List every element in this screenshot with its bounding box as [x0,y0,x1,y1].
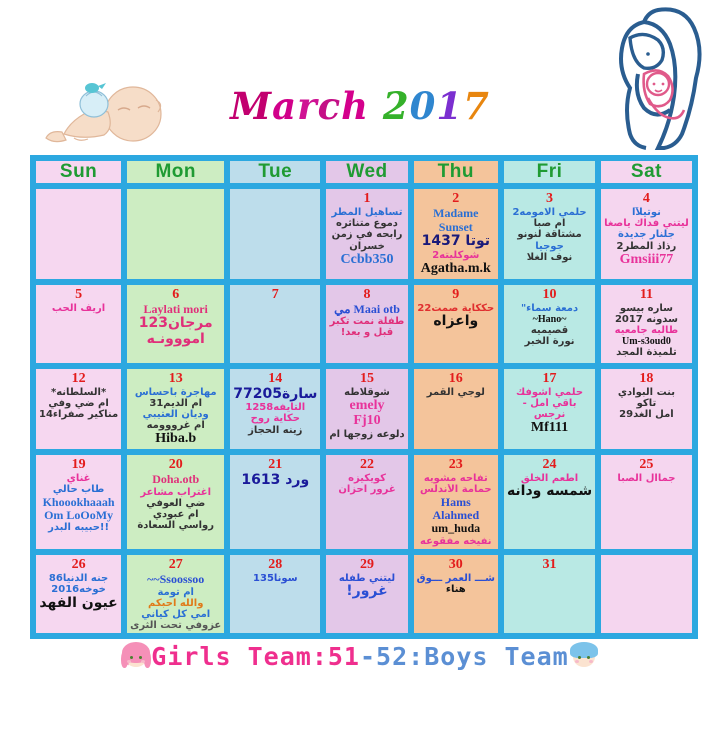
calendar-week-row: 1تساهيل المطردموع متناثرهرابحه في زمنخسر… [33,186,695,282]
calendar-week-row: 5اريف الحب6Laylati moriمرجان123امووونـه7… [33,282,695,366]
day-note: شـــ العمر ـــوق [417,573,495,584]
day-note: طالبه جامعيه [604,325,689,336]
day-notes: ورد 1613 [233,473,317,489]
day-note: حلمي اشوفك [507,387,592,398]
day-note: اغتراب مشاعر [130,487,221,498]
day-note: لوجي القمر [417,387,495,398]
day-number: 9 [417,287,495,302]
weekday-header-row: Sun Mon Tue Wed Thu Fri Sat [33,158,695,186]
day-notes: مهاجرة باحساسام الديم31وديان العتيبيام غ… [130,387,221,447]
day-note: اريف الحب [39,303,118,314]
day-cell-14[interactable]: 14سارة77205التايفه1258حكاية روحزينه الحج… [227,366,323,453]
day-note: ساره بيسو [604,303,689,314]
day-note: خوخه2016 [39,584,118,595]
day-note: Hams [417,496,495,509]
day-note: Fj10 [329,413,404,429]
day-number: 5 [39,287,118,302]
day-note: تفاحه مشويه [417,473,495,484]
boys-score: 52 [376,642,408,671]
day-note: هناء [417,584,495,595]
day-number: 4 [604,191,689,206]
day-cell-15[interactable]: 15شوقلاطهemelyFj10دلوعه زوجها ام [323,366,410,453]
day-number: 23 [417,457,495,472]
day-notes: ~~Ssoossooأم تومةوالله احبكمامي كل كياني… [130,573,221,631]
day-note: واعزاه [417,314,495,330]
calendar-body: 1تساهيل المطردموع متناثرهرابحه في زمنخسر… [33,186,695,636]
day-note: قبل و بعد! [329,327,404,338]
day-cell-empty[interactable] [124,186,227,282]
day-note: شوكليته2 [417,250,495,261]
day-note: Sunset [417,221,495,234]
day-cell-23[interactable]: 23تفاحه مشويهحمامة الأندلسHamsAlahmedum_… [411,452,501,552]
day-note: مهاجرة باحساس [130,387,221,398]
day-cell-28[interactable]: 28سونا135 [227,552,323,636]
day-number: 19 [39,457,118,472]
calendar-week-row: 26جنه الدنيا86خوخه2016عيون الفهد27~~Ssoo… [33,552,695,636]
day-note: ضي العوفي [130,498,221,509]
day-note: رذاذ المطر2 [604,241,689,252]
day-notes: Doha.otbاغتراب مشاعرضي العوفيام عبوديروا… [130,473,221,531]
day-note: قصيميه [507,325,592,336]
day-notes: مي Maai otbطفلة نمت تكبرقبل و بعد! [329,303,404,339]
day-cell-1[interactable]: 1تساهيل المطردموع متناثرهرابحه في زمنخسر… [323,186,410,282]
calendar-week-row: 19غنايطاب حاليKhoookhaaahOm LoOoMy!!حبيب… [33,452,695,552]
day-note: Ccbb350 [329,252,404,268]
day-number: 1 [329,191,404,206]
day-note: *السلطانه* [39,387,118,398]
day-notes: لوجي القمر [417,387,495,398]
day-note: مرجان123 [130,316,221,332]
day-note: ~Hano~ [507,314,592,325]
day-number: 30 [417,557,495,572]
day-notes: حككاية صمت22واعزاه [417,303,495,330]
day-number: 20 [130,457,221,472]
day-notes: شوقلاطهemelyFj10دلوعه زوجها ام [329,387,404,441]
day-note: حمامة الأندلس [417,484,495,495]
day-number: 16 [417,371,495,386]
day-number: 8 [329,287,404,302]
day-note: مناكير صفراء14 [39,409,118,420]
teams-score-footer: Girls Team:51-52:Boys Team [0,636,720,676]
day-note: تلميذة المجد [604,347,689,358]
day-cell-4[interactable]: 4نوتيلآاليتني فداك ياصغاجلنار جديدةرذاذ … [598,186,695,282]
day-notes: MadameSunsetتوتا 1437شوكليته2Agatha.m.k [417,207,495,276]
day-notes: جماال الصبا [604,473,689,484]
day-note: رواسي السعادة [130,520,221,531]
day-note: دمعة سماء" [507,303,592,314]
day-note: امووونـه [130,332,221,348]
day-cell-6[interactable]: 6Laylati moriمرجان123امووونـه [124,282,227,366]
day-note: Mf111 [507,420,592,436]
day-note: Um-s3oud0 [604,336,689,347]
day-notes: سونا135 [233,573,317,584]
day-note: مي Maai otb [329,303,404,316]
day-note: غرور احزان [329,484,404,495]
calendar-page: March 2017 Sun Mon Tue Wed Thu Fri Sa [0,0,720,748]
boy-face-icon [569,642,599,670]
day-cell-empty[interactable] [598,552,695,636]
day-number: 29 [329,557,404,572]
day-notes: حلمي الامومه2ام صبامشتاقة لنونوجوجيانوف … [507,207,592,263]
day-cell-13[interactable]: 13مهاجرة باحساسام الديم31وديان العتيبيام… [124,366,227,453]
day-note: جنه الدنيا86 [39,573,118,584]
calendar-week-row: 12*السلطانه*ام ضي وفيمناكير صفراء1413مها… [33,366,695,453]
day-cell-29[interactable]: 29ليتني طفلهغرور! [323,552,410,636]
day-number: 11 [604,287,689,302]
day-notes: سارة77205التايفه1258حكاية روحزينه الحجاز [233,387,317,436]
day-number: 21 [233,457,317,472]
day-note: والله احبكم [130,598,221,609]
day-notes: دمعة سماء"~Hano~قصيميهنورة الخبر [507,303,592,348]
girls-team-label: Girls Team [151,642,312,671]
day-note: غناي [39,473,118,484]
score-separator-left: : [312,642,328,671]
day-note: ام عبودي [130,509,221,520]
day-note: Madame [417,207,495,220]
day-number: 31 [507,557,592,572]
day-notes: ساره بيسوسدونه 2017طالبه جامعيهUm-s3oud0… [604,303,689,359]
day-cell-2[interactable]: 2MadameSunsetتوتا 1437شوكليته2Agatha.m.k [411,186,501,282]
day-note: مشتاقة لنونو [507,229,592,240]
boys-team-label: Boys Team [424,642,568,671]
day-note: حككاية صمت22 [417,303,495,314]
day-note: جوجيا [507,241,592,252]
day-note: ورد 1613 [233,473,317,489]
mother-holding-baby-illustration [600,4,712,152]
weekday-header-thu: Thu [411,158,501,186]
day-number: 15 [329,371,404,386]
day-note: دلوعه زوجها ام [329,429,404,440]
day-note: تساهيل المطر [329,207,404,218]
day-note: Khoookhaaah [39,496,118,509]
day-note: نرجس [507,409,592,420]
score-line: Girls Team:51-52:Boys Team [151,642,568,671]
day-number: 24 [507,457,592,472]
day-note: Om LoOoMy [39,509,118,522]
day-cell-empty[interactable] [227,186,323,282]
day-cell-empty[interactable] [33,186,124,282]
day-note: خسران [329,241,404,252]
day-note: تاكو [604,398,689,409]
day-note: حلمي الامومه2 [507,207,592,218]
day-cell-24[interactable]: 24اطعم الخلقشمسه ودانه [501,452,598,552]
day-number: 17 [507,371,592,386]
day-cell-20[interactable]: 20Doha.otbاغتراب مشاعرضي العوفيام عبودير… [124,452,227,552]
day-note: ام غرووومه [130,420,221,431]
day-cell-9[interactable]: 9حككاية صمت22واعزاه [411,282,501,366]
day-note: حكاية روح [233,413,317,424]
day-note: وديان العتيبي [130,409,221,420]
weekday-header-fri: Fri [501,158,598,186]
day-cell-12[interactable]: 12*السلطانه*ام ضي وفيمناكير صفراء14 [33,366,124,453]
day-number: 6 [130,287,221,302]
girl-face-icon [121,642,151,670]
day-note: ليتني طفله [329,573,404,584]
day-number: 3 [507,191,592,206]
day-note: سارة77205 [233,387,317,403]
day-number: 28 [233,557,317,572]
calendar-grid: Sun Mon Tue Wed Thu Fri Sat 1تساهيل المط… [30,155,698,639]
day-cell-16[interactable]: 16لوجي القمر [411,366,501,453]
day-notes: تساهيل المطردموع متناثرهرابحه في زمنخسرا… [329,207,404,267]
day-notes: جنه الدنيا86خوخه2016عيون الفهد [39,573,118,611]
day-note: التايفه1258 [233,402,317,413]
day-note: Gmsiii77 [604,252,689,268]
day-cell-18[interactable]: 18بنت البواديتاكوأمل الغد29 [598,366,695,453]
day-notes: اريف الحب [39,303,118,314]
weekday-header-mon: Mon [124,158,227,186]
day-notes: شـــ العمر ـــوقهناء [417,573,495,595]
day-note: Agatha.m.k [417,261,495,277]
day-note: سدونه 2017 [604,314,689,325]
calendar-header: March 2017 [0,0,720,155]
day-note: توتا 1437 [417,234,495,250]
day-cell-3[interactable]: 3حلمي الامومه2ام صبامشتاقة لنونوجوجيانوف… [501,186,598,282]
day-note: طفلة نمت تكبر [329,316,404,327]
day-notes: كويكيزهغرور احزان [329,473,404,495]
day-number: 25 [604,457,689,472]
day-note: Doha.otb [130,473,221,486]
day-number: 7 [233,287,317,302]
weekday-header-tue: Tue [227,158,323,186]
day-cell-11[interactable]: 11ساره بيسوسدونه 2017طالبه جامعيهUm-s3ou… [598,282,695,366]
day-notes: Laylati moriمرجان123امووونـه [130,303,221,348]
day-note: emely [329,398,404,414]
day-note: Laylati mori [130,303,221,316]
day-note: أم تومة [130,587,221,598]
weekday-header-sun: Sun [33,158,124,186]
day-cell-31[interactable]: 31 [501,552,598,636]
day-number: 22 [329,457,404,472]
day-notes: حلمي اشوفكباقي أمل -نرجسMf111 [507,387,592,436]
day-note: نفيخه مفقوعه [417,536,495,547]
day-note: اطعم الخلق [507,473,592,484]
day-note: نورة الخبر [507,336,592,347]
day-cell-7[interactable]: 7 [227,282,323,366]
day-cell-26[interactable]: 26جنه الدنيا86خوخه2016عيون الفهد [33,552,124,636]
day-cell-22[interactable]: 22كويكيزهغرور احزان [323,452,410,552]
day-note: سونا135 [233,573,317,584]
day-note: رابحه في زمن [329,229,404,240]
day-cell-27[interactable]: 27~~Ssoossooأم تومةوالله احبكمامي كل كيا… [124,552,227,636]
day-note: بنت البوادي [604,387,689,398]
day-note: نوتيلآا [604,207,689,218]
day-number: 2 [417,191,495,206]
day-notes: تفاحه مشويهحمامة الأندلسHamsAlahmedum_hu… [417,473,495,547]
day-note: جلنار جديدة [604,229,689,240]
day-note: شمسه ودانه [507,484,592,500]
day-number: 18 [604,371,689,386]
day-cell-5[interactable]: 5اريف الحب [33,282,124,366]
day-notes: اطعم الخلقشمسه ودانه [507,473,592,500]
day-number: 13 [130,371,221,386]
day-note: عيون الفهد [39,596,118,612]
day-number: 12 [39,371,118,386]
day-number: 10 [507,287,592,302]
day-notes: غنايطاب حاليKhoookhaaahOm LoOoMy!!حبيبه … [39,473,118,533]
day-number: 27 [130,557,221,572]
day-note: امي كل كياني [130,609,221,620]
day-note: um_huda [417,522,495,535]
day-note: نوف الغلا [507,252,592,263]
day-note: !!حبيبه البدر [39,522,118,533]
day-note: Alahmed [417,509,495,522]
day-cell-21[interactable]: 21ورد 1613 [227,452,323,552]
weekday-header-wed: Wed [323,158,410,186]
day-note: ليتني فداك ياصغا [604,218,689,229]
day-cell-8[interactable]: 8مي Maai otbطفلة نمت تكبرقبل و بعد! [323,282,410,366]
day-note: جماال الصبا [604,473,689,484]
day-note: Hiba.b [130,431,221,447]
day-notes: بنت البواديتاكوأمل الغد29 [604,387,689,421]
day-note: ام الديم31 [130,398,221,409]
day-note: عزوفي تحت الثرى [130,620,221,631]
day-number: 26 [39,557,118,572]
day-cell-19[interactable]: 19غنايطاب حاليKhoookhaaahOm LoOoMy!!حبيب… [33,452,124,552]
day-note: ~~Ssoossoo [130,573,221,586]
day-notes: ليتني طفلهغرور! [329,573,404,600]
girls-score: 51 [328,642,360,671]
day-cell-25[interactable]: 25جماال الصبا [598,452,695,552]
day-note: أمل الغد29 [604,409,689,420]
day-notes: *السلطانه*ام ضي وفيمناكير صفراء14 [39,387,118,421]
day-cell-17[interactable]: 17حلمي اشوفكباقي أمل -نرجسMf111 [501,366,598,453]
day-cell-30[interactable]: 30شـــ العمر ـــوقهناء [411,552,501,636]
day-note: شوقلاطه [329,387,404,398]
day-cell-10[interactable]: 10دمعة سماء"~Hano~قصيميهنورة الخبر [501,282,598,366]
day-note: زينه الحجاز [233,425,317,436]
weekday-header-sat: Sat [598,158,695,186]
day-notes: نوتيلآاليتني فداك ياصغاجلنار جديدةرذاذ ا… [604,207,689,267]
day-note: طاب حالي [39,484,118,495]
day-note: دموع متناثره [329,218,404,229]
score-separator-right: : [408,642,424,671]
day-note: باقي أمل - [507,398,592,409]
day-note: ام ضي وفي [39,398,118,409]
day-note: كويكيزه [329,473,404,484]
day-number: 14 [233,371,317,386]
day-note: غرور! [329,584,404,600]
day-note: ام صبا [507,218,592,229]
score-dash: - [360,642,376,671]
